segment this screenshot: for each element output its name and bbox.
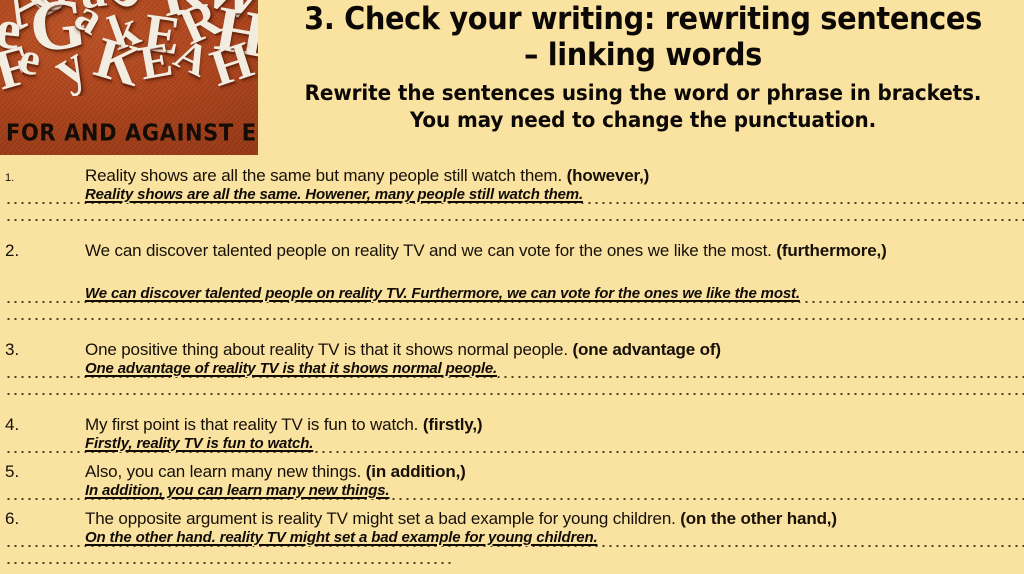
page-subtitle: Rewrite the sentences using the word or …	[281, 80, 1005, 134]
question-cue: (on the other hand,)	[680, 509, 837, 528]
question-text: The opposite argument is reality TV migh…	[85, 509, 837, 528]
question-sentence: One positive thing about reality TV is t…	[85, 340, 572, 359]
answer-row[interactable]: One advantage of reality TV is that it s…	[0, 360, 1024, 382]
title-block: 3. Check your writing: rewriting sentenc…	[262, 0, 1024, 134]
blank-answer-row[interactable]	[0, 551, 1024, 571]
slide-header: ASaJRWeGakERHFeyKEAH FOR AND AGAINST ESS…	[0, 0, 1024, 160]
answer-text[interactable]: Reality shows are all the same. Howener,…	[85, 186, 584, 203]
exercise-list: 1.Reality shows are all the same but man…	[0, 166, 1024, 571]
question-row: 1.Reality shows are all the same but man…	[0, 166, 1024, 186]
question-cue: (one advantage of)	[572, 340, 720, 359]
cover-image-wooden-letters: ASaJRWeGakERHFeyKEAH FOR AND AGAINST ESS…	[0, 0, 258, 155]
question-row: 2.We can discover talented people on rea…	[0, 241, 1024, 261]
question-text: Reality shows are all the same but many …	[85, 166, 649, 185]
question-text: We can discover talented people on reali…	[85, 241, 887, 260]
dotted-rule	[5, 219, 1024, 221]
wooden-letter: E	[137, 40, 175, 84]
question-text: Also, you can learn many new things. (in…	[85, 462, 466, 481]
cover-caption: FOR AND AGAINST ESSAY	[6, 119, 258, 146]
question-sentence: We can discover talented people on reali…	[85, 241, 776, 260]
row-gap	[0, 402, 1024, 415]
question-number: 4.	[5, 415, 85, 435]
question-number: 5.	[5, 462, 85, 482]
answer-text[interactable]: One advantage of reality TV is that it s…	[85, 360, 498, 377]
question-number: 6.	[5, 509, 85, 529]
question-cue: (however,)	[567, 166, 650, 185]
row-gap	[0, 228, 1024, 241]
question-cue: (firstly,)	[423, 415, 483, 434]
blank-answer-row[interactable]	[0, 208, 1024, 228]
question-cue: (furthermore,)	[776, 241, 886, 260]
question-row: 3.One positive thing about reality TV is…	[0, 340, 1024, 360]
question-sentence: My first point is that reality TV is fun…	[85, 415, 423, 434]
question-number: 2.	[5, 241, 85, 261]
question-number: 3.	[5, 340, 85, 360]
scattered-letters-graphic: ASaJRWeGakERHFeyKEAH	[0, 0, 258, 96]
answer-row[interactable]: On the other hand. reality TV might set …	[0, 529, 1024, 551]
question-row: 5.Also, you can learn many new things. (…	[0, 462, 1024, 482]
question-cue: (in addition,)	[366, 462, 466, 481]
dotted-rule	[5, 393, 1024, 395]
answer-text[interactable]: On the other hand. reality TV might set …	[85, 529, 598, 546]
slide: ASaJRWeGakERHFeyKEAH FOR AND AGAINST ESS…	[0, 0, 1024, 574]
dotted-rule	[5, 318, 1024, 320]
blank-answer-row[interactable]	[0, 307, 1024, 327]
question-row: 6.The opposite argument is reality TV mi…	[0, 509, 1024, 529]
question-text: My first point is that reality TV is fun…	[85, 415, 482, 434]
dotted-rule	[5, 562, 455, 564]
answer-row[interactable]: We can discover talented people on reali…	[0, 285, 1024, 307]
row-gap	[0, 327, 1024, 340]
answer-text[interactable]: We can discover talented people on reali…	[85, 285, 801, 302]
answer-gap	[0, 261, 1024, 285]
answer-row[interactable]: Firstly, reality TV is fun to watch.	[0, 435, 1024, 457]
question-text: One positive thing about reality TV is t…	[85, 340, 721, 359]
page-title: 3. Check your writing: rewriting sentenc…	[289, 0, 998, 74]
question-sentence: The opposite argument is reality TV migh…	[85, 509, 680, 528]
question-sentence: Also, you can learn many new things.	[85, 462, 366, 481]
answer-row[interactable]: Reality shows are all the same. Howener,…	[0, 186, 1024, 208]
answer-text[interactable]: Firstly, reality TV is fun to watch.	[85, 435, 314, 452]
answer-text[interactable]: In addition, you can learn many new thin…	[85, 482, 390, 499]
question-row: 4.My first point is that reality TV is f…	[0, 415, 1024, 435]
question-sentence: Reality shows are all the same but many …	[85, 166, 567, 185]
blank-answer-row[interactable]	[0, 382, 1024, 402]
answer-row[interactable]: In addition, you can learn many new thin…	[0, 482, 1024, 504]
question-number: 1.	[5, 172, 85, 184]
